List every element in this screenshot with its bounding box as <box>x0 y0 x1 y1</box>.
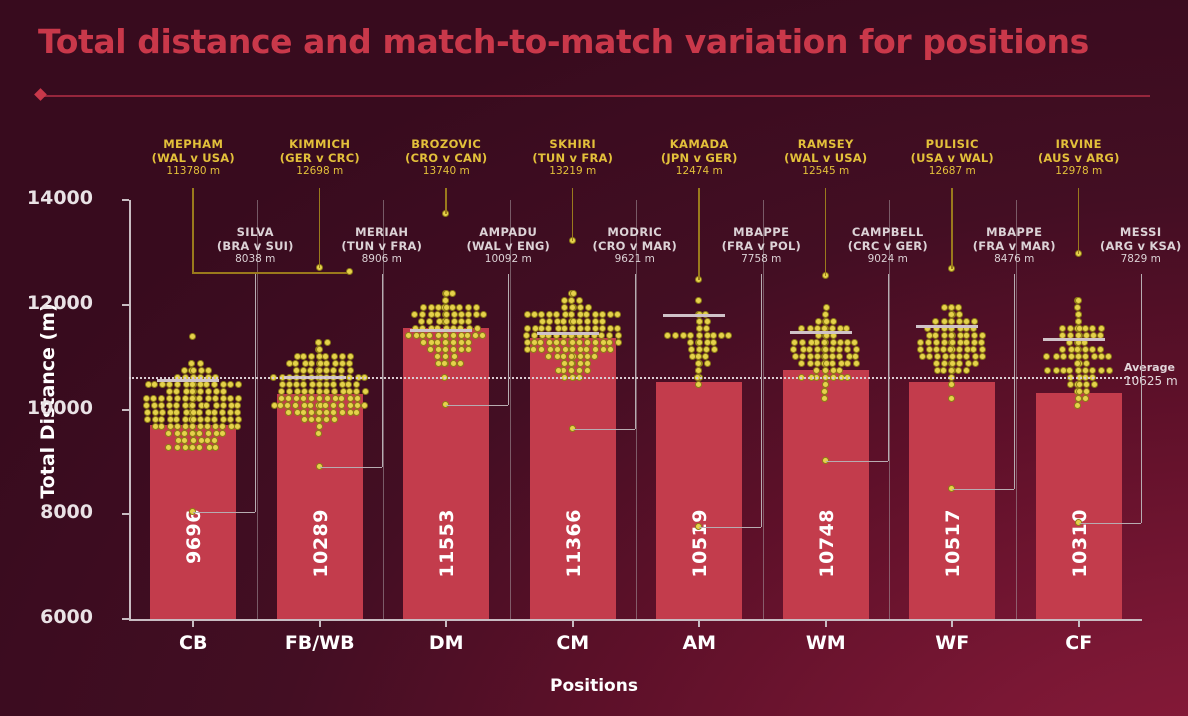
data-point <box>710 332 717 339</box>
data-point <box>1075 318 1082 325</box>
data-point <box>220 402 227 409</box>
data-point <box>1097 346 1104 353</box>
data-point <box>584 360 591 367</box>
x-axis-tick <box>951 620 953 627</box>
data-point <box>143 402 150 409</box>
data-point <box>592 325 599 332</box>
data-point <box>419 311 426 318</box>
data-point <box>301 416 308 423</box>
data-point <box>158 402 165 409</box>
y-axis-tick <box>122 409 129 411</box>
data-point <box>205 367 212 374</box>
data-point <box>524 339 531 346</box>
data-point <box>591 353 598 360</box>
data-point <box>963 332 970 339</box>
data-point <box>555 367 562 374</box>
annotation-leader-line <box>445 188 447 214</box>
data-point <box>167 409 174 416</box>
data-point <box>473 311 480 318</box>
data-point <box>309 381 316 388</box>
data-point <box>1083 381 1090 388</box>
annotation-leader-line <box>1014 274 1015 489</box>
data-point <box>451 311 458 318</box>
data-point <box>323 409 330 416</box>
data-point <box>294 353 301 360</box>
data-point <box>941 339 948 346</box>
data-point <box>607 325 614 332</box>
data-point <box>822 367 829 374</box>
data-point <box>235 416 242 423</box>
data-point <box>443 318 450 325</box>
data-point <box>166 388 173 395</box>
data-point <box>197 423 204 430</box>
annotation-leader-line <box>888 274 889 461</box>
data-point <box>316 367 323 374</box>
data-point <box>790 346 797 353</box>
data-point <box>823 304 830 311</box>
data-point <box>829 346 836 353</box>
data-point <box>569 325 576 332</box>
annotation-player: MESSI <box>1051 226 1188 240</box>
data-point <box>576 297 583 304</box>
data-point <box>419 332 426 339</box>
data-point <box>316 395 323 402</box>
y-axis-tick <box>122 513 129 515</box>
data-point <box>227 409 234 416</box>
median-marker <box>1043 338 1105 341</box>
data-point <box>181 367 188 374</box>
data-point <box>1083 360 1090 367</box>
data-point <box>972 353 979 360</box>
data-point <box>592 311 599 318</box>
annotation-leader-line <box>508 274 509 405</box>
data-point <box>664 332 671 339</box>
annotation-leader-elbow <box>826 461 888 462</box>
annotation-leader-line <box>635 274 636 429</box>
data-point <box>271 402 278 409</box>
data-point <box>286 388 293 395</box>
median-marker <box>157 379 219 382</box>
data-point <box>1098 325 1105 332</box>
data-point <box>183 388 190 395</box>
data-point <box>711 346 718 353</box>
data-point <box>189 402 196 409</box>
data-point <box>458 346 465 353</box>
data-point <box>346 388 353 395</box>
data-point <box>718 332 725 339</box>
data-point <box>561 297 568 304</box>
chart-plot-area: Total Distance (m) Positions 60008000100… <box>0 0 1188 716</box>
data-point <box>561 325 568 332</box>
data-point <box>554 318 561 325</box>
data-point <box>182 444 189 451</box>
data-point <box>234 402 241 409</box>
data-point <box>917 346 924 353</box>
bar-wm[interactable] <box>783 370 869 619</box>
data-point <box>813 367 820 374</box>
y-axis-tick-label: 10000 <box>27 397 93 419</box>
data-point <box>347 402 354 409</box>
x-axis-tick-label-dm: DM <box>376 632 516 654</box>
data-point <box>592 339 599 346</box>
data-point <box>1075 395 1082 402</box>
data-point <box>949 339 956 346</box>
data-point <box>345 381 352 388</box>
data-point <box>600 346 607 353</box>
y-axis-tick-label: 6000 <box>40 606 93 628</box>
data-point <box>1091 381 1098 388</box>
data-point <box>152 409 159 416</box>
data-point <box>547 346 554 353</box>
data-point <box>472 332 479 339</box>
data-point <box>614 325 621 332</box>
data-point <box>292 360 299 367</box>
data-point <box>361 402 368 409</box>
y-axis-tick-label: 8000 <box>40 501 93 523</box>
data-point <box>814 353 821 360</box>
data-point <box>151 402 158 409</box>
data-point <box>568 297 575 304</box>
data-point <box>1082 325 1089 332</box>
data-point <box>695 381 702 388</box>
data-point <box>725 332 732 339</box>
data-point <box>323 381 330 388</box>
data-point <box>1082 367 1089 374</box>
data-point <box>300 381 307 388</box>
data-point <box>300 367 307 374</box>
data-point <box>577 353 584 360</box>
data-point <box>1098 353 1105 360</box>
data-point <box>347 353 354 360</box>
data-point <box>836 346 843 353</box>
annotation-leader-line <box>761 274 762 527</box>
data-point <box>197 388 204 395</box>
data-point <box>173 388 180 395</box>
data-point <box>800 346 807 353</box>
data-point <box>965 360 972 367</box>
data-point <box>158 395 165 402</box>
data-point <box>524 311 531 318</box>
annotation-match: (ARG v KSA) <box>1051 240 1188 254</box>
y-axis-tick-label: 14000 <box>27 187 93 209</box>
data-point <box>696 318 703 325</box>
data-point <box>1053 367 1060 374</box>
data-point <box>301 402 308 409</box>
data-point <box>353 409 360 416</box>
data-point <box>173 409 180 416</box>
data-point <box>933 346 940 353</box>
data-point <box>330 367 337 374</box>
data-point <box>545 325 552 332</box>
data-point <box>546 318 553 325</box>
data-point <box>562 346 569 353</box>
data-point <box>956 311 963 318</box>
data-point <box>852 353 859 360</box>
data-point <box>561 360 568 367</box>
data-point <box>465 318 472 325</box>
data-point <box>294 409 301 416</box>
data-point <box>152 416 159 423</box>
data-point <box>293 381 300 388</box>
data-point <box>339 360 346 367</box>
y-axis-line <box>129 200 131 620</box>
data-point <box>324 339 331 346</box>
data-point <box>449 290 456 297</box>
x-axis-tick <box>572 620 574 627</box>
data-point <box>316 381 323 388</box>
data-point <box>956 353 963 360</box>
data-point <box>1044 367 1051 374</box>
data-point <box>339 353 346 360</box>
annotation-leader-line <box>255 274 256 512</box>
data-point <box>332 360 339 367</box>
data-point <box>174 430 181 437</box>
data-point <box>278 388 285 395</box>
data-point <box>696 332 703 339</box>
data-point <box>853 360 860 367</box>
data-point <box>592 318 599 325</box>
data-point <box>607 311 614 318</box>
data-point <box>844 346 851 353</box>
data-point <box>173 402 180 409</box>
data-point <box>166 395 173 402</box>
data-point <box>554 353 561 360</box>
data-point <box>1075 311 1082 318</box>
data-point <box>331 388 338 395</box>
data-point <box>1082 353 1089 360</box>
data-point <box>190 416 197 423</box>
x-axis-tick <box>1078 620 1080 627</box>
bar-wf[interactable] <box>909 382 995 619</box>
data-point <box>182 423 189 430</box>
data-point <box>560 318 567 325</box>
data-point <box>443 311 450 318</box>
data-point <box>807 353 814 360</box>
data-point <box>323 360 330 367</box>
data-point <box>1066 367 1073 374</box>
data-point <box>227 416 234 423</box>
annotation-leader-elbow <box>573 429 635 430</box>
x-axis-tick <box>698 620 700 627</box>
data-point <box>524 325 531 332</box>
data-point <box>1059 346 1066 353</box>
data-point <box>196 395 203 402</box>
data-point <box>963 353 970 360</box>
x-axis-tick <box>192 620 194 627</box>
data-point <box>955 367 962 374</box>
data-point <box>450 360 457 367</box>
data-point <box>213 388 220 395</box>
data-point <box>1098 367 1105 374</box>
data-point <box>307 367 314 374</box>
data-point <box>1076 381 1083 388</box>
annotation-endpoint-dot <box>346 268 353 275</box>
data-point <box>234 423 241 430</box>
x-axis-tick-label-fb-wb: FB/WB <box>250 632 390 654</box>
data-point <box>971 332 978 339</box>
data-point <box>688 346 695 353</box>
data-point <box>941 332 948 339</box>
data-point <box>704 360 711 367</box>
data-point <box>851 339 858 346</box>
data-point <box>316 423 323 430</box>
data-point <box>204 423 211 430</box>
data-point <box>823 318 830 325</box>
data-point <box>577 304 584 311</box>
data-point <box>614 311 621 318</box>
data-point <box>956 346 963 353</box>
data-point <box>220 416 227 423</box>
data-point <box>196 430 203 437</box>
data-point <box>933 339 940 346</box>
bar-value-label: 10517 <box>942 509 964 578</box>
annotation-leader-elbow <box>952 489 1014 490</box>
data-point <box>941 360 948 367</box>
data-point <box>331 353 338 360</box>
data-point <box>532 325 539 332</box>
data-point <box>212 395 219 402</box>
data-point <box>584 318 591 325</box>
data-point <box>926 346 933 353</box>
data-point <box>815 318 822 325</box>
max-annotation-cf: IRVINE(AUS v ARG)12978 m <box>989 138 1169 178</box>
data-point <box>308 360 315 367</box>
data-point <box>428 311 435 318</box>
data-point <box>1068 353 1075 360</box>
data-point <box>695 367 702 374</box>
data-point <box>836 367 843 374</box>
x-axis-tick-label-cb: CB <box>123 632 263 654</box>
data-point <box>315 339 322 346</box>
data-point <box>799 339 806 346</box>
data-point <box>144 409 151 416</box>
bar-value-label: 10289 <box>310 509 332 578</box>
data-point <box>196 444 203 451</box>
data-point <box>420 304 427 311</box>
data-point <box>211 409 218 416</box>
data-point <box>347 395 354 402</box>
data-point <box>324 395 331 402</box>
data-point <box>695 353 702 360</box>
data-point <box>188 360 195 367</box>
median-marker <box>537 332 599 335</box>
data-point <box>963 339 970 346</box>
data-point <box>576 318 583 325</box>
data-point <box>837 339 844 346</box>
annotation-leader-elbow <box>193 512 255 513</box>
data-point <box>279 381 286 388</box>
data-point <box>442 339 449 346</box>
data-point <box>212 444 219 451</box>
data-point <box>687 332 694 339</box>
chart-page: Total distance and match-to-match variat… <box>0 0 1188 716</box>
data-point <box>1068 346 1075 353</box>
data-point <box>293 367 300 374</box>
data-point <box>592 346 599 353</box>
data-point <box>145 381 152 388</box>
bar-value-label: 10519 <box>689 509 711 578</box>
data-point <box>354 395 361 402</box>
data-point <box>577 325 584 332</box>
data-point <box>173 416 180 423</box>
annotation-value: 12978 m <box>989 165 1169 177</box>
data-point <box>338 402 345 409</box>
data-point <box>347 367 354 374</box>
data-point <box>219 430 226 437</box>
data-point <box>323 367 330 374</box>
annotation-leader-elbow <box>192 272 350 274</box>
data-point <box>451 318 458 325</box>
average-label-text: Average <box>1124 361 1178 374</box>
data-point <box>1060 353 1067 360</box>
bar-cf[interactable] <box>1036 393 1122 619</box>
data-point <box>956 360 963 367</box>
data-point <box>576 367 583 374</box>
data-point <box>844 360 851 367</box>
data-point <box>844 339 851 346</box>
data-point <box>948 311 955 318</box>
data-point <box>166 402 173 409</box>
data-point <box>822 311 829 318</box>
data-point <box>451 353 458 360</box>
data-point <box>680 332 687 339</box>
data-point <box>465 339 472 346</box>
y-axis-tick-label: 12000 <box>27 292 93 314</box>
data-point <box>925 339 932 346</box>
data-point <box>435 360 442 367</box>
data-point <box>695 297 702 304</box>
data-point <box>1105 353 1112 360</box>
data-point <box>830 339 837 346</box>
data-point <box>539 318 546 325</box>
data-point <box>418 318 425 325</box>
data-point <box>427 346 434 353</box>
data-point <box>940 346 947 353</box>
data-point <box>286 360 293 367</box>
data-point <box>1043 353 1050 360</box>
bar-am[interactable] <box>656 382 742 619</box>
data-point <box>932 332 939 339</box>
data-point <box>949 353 956 360</box>
data-point <box>791 339 798 346</box>
data-point <box>316 409 323 416</box>
min-annotation-cf: MESSI(ARG v KSA)7829 m <box>1051 226 1188 266</box>
data-point <box>411 311 418 318</box>
data-point <box>426 318 433 325</box>
annotation-leader-elbow <box>1079 523 1141 524</box>
data-point <box>189 395 196 402</box>
data-point <box>174 395 181 402</box>
data-point <box>465 304 472 311</box>
data-point <box>696 325 703 332</box>
data-point <box>696 339 703 346</box>
data-point <box>792 353 799 360</box>
data-point <box>220 381 227 388</box>
y-axis-tick <box>122 618 129 620</box>
data-point <box>570 290 577 297</box>
data-point <box>1075 353 1082 360</box>
data-point <box>607 346 614 353</box>
data-point <box>1089 346 1096 353</box>
data-point <box>585 304 592 311</box>
data-point <box>308 395 315 402</box>
data-point <box>189 444 196 451</box>
x-axis-tick-label-cm: CM <box>503 632 643 654</box>
data-point <box>338 395 345 402</box>
data-point <box>584 367 591 374</box>
annotation-value: 7829 m <box>1051 253 1188 265</box>
data-point <box>211 416 218 423</box>
